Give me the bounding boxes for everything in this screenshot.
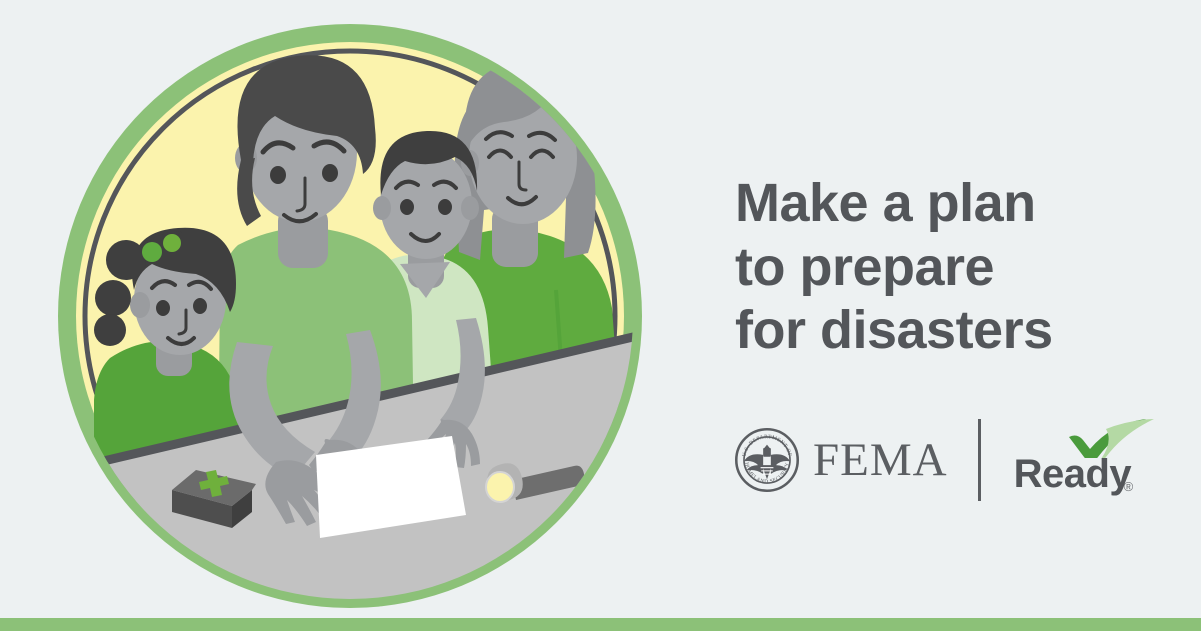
girl-hair-bead-2 (163, 234, 181, 252)
girl-hair-puff-3 (94, 314, 126, 346)
bottom-accent-bar (0, 618, 1201, 631)
poster-canvas: Make a plan to prepare for disasters U.S… (0, 0, 1201, 631)
content-column: Make a plan to prepare for disasters U.S… (735, 0, 1175, 631)
dhs-seal-icon: U.S. DEPARTMENT OF HOMELAND SECURITY (735, 428, 799, 492)
logo-lockup: U.S. DEPARTMENT OF HOMELAND SECURITY FEM… (735, 418, 1164, 502)
boy-ear-left (373, 196, 391, 220)
logo-divider (978, 419, 981, 501)
boy-eye-left (400, 199, 414, 215)
girl-eye-left (156, 300, 170, 316)
man-eye-left (270, 166, 286, 184)
boy-eye-right (438, 199, 452, 215)
ready-logo: Ready ® (1014, 418, 1164, 502)
girl-hair-puff-1 (106, 240, 146, 280)
ready-registered-mark: ® (1124, 480, 1134, 493)
girl-eye-right (193, 298, 207, 314)
boy-ear-right (461, 196, 479, 220)
fema-wordmark: FEMA (813, 437, 948, 484)
girl-hair-bead-1 (142, 242, 162, 262)
girl-hair-puff-2 (95, 280, 131, 316)
ready-wordmark: Ready (1014, 454, 1132, 494)
page-headline: Make a plan to prepare for disasters (735, 172, 1155, 363)
family-making-a-plan-illustration (0, 0, 700, 631)
man-eye-right (322, 164, 338, 182)
flashlight-lens (486, 472, 514, 502)
girl-ear-left (130, 292, 150, 318)
